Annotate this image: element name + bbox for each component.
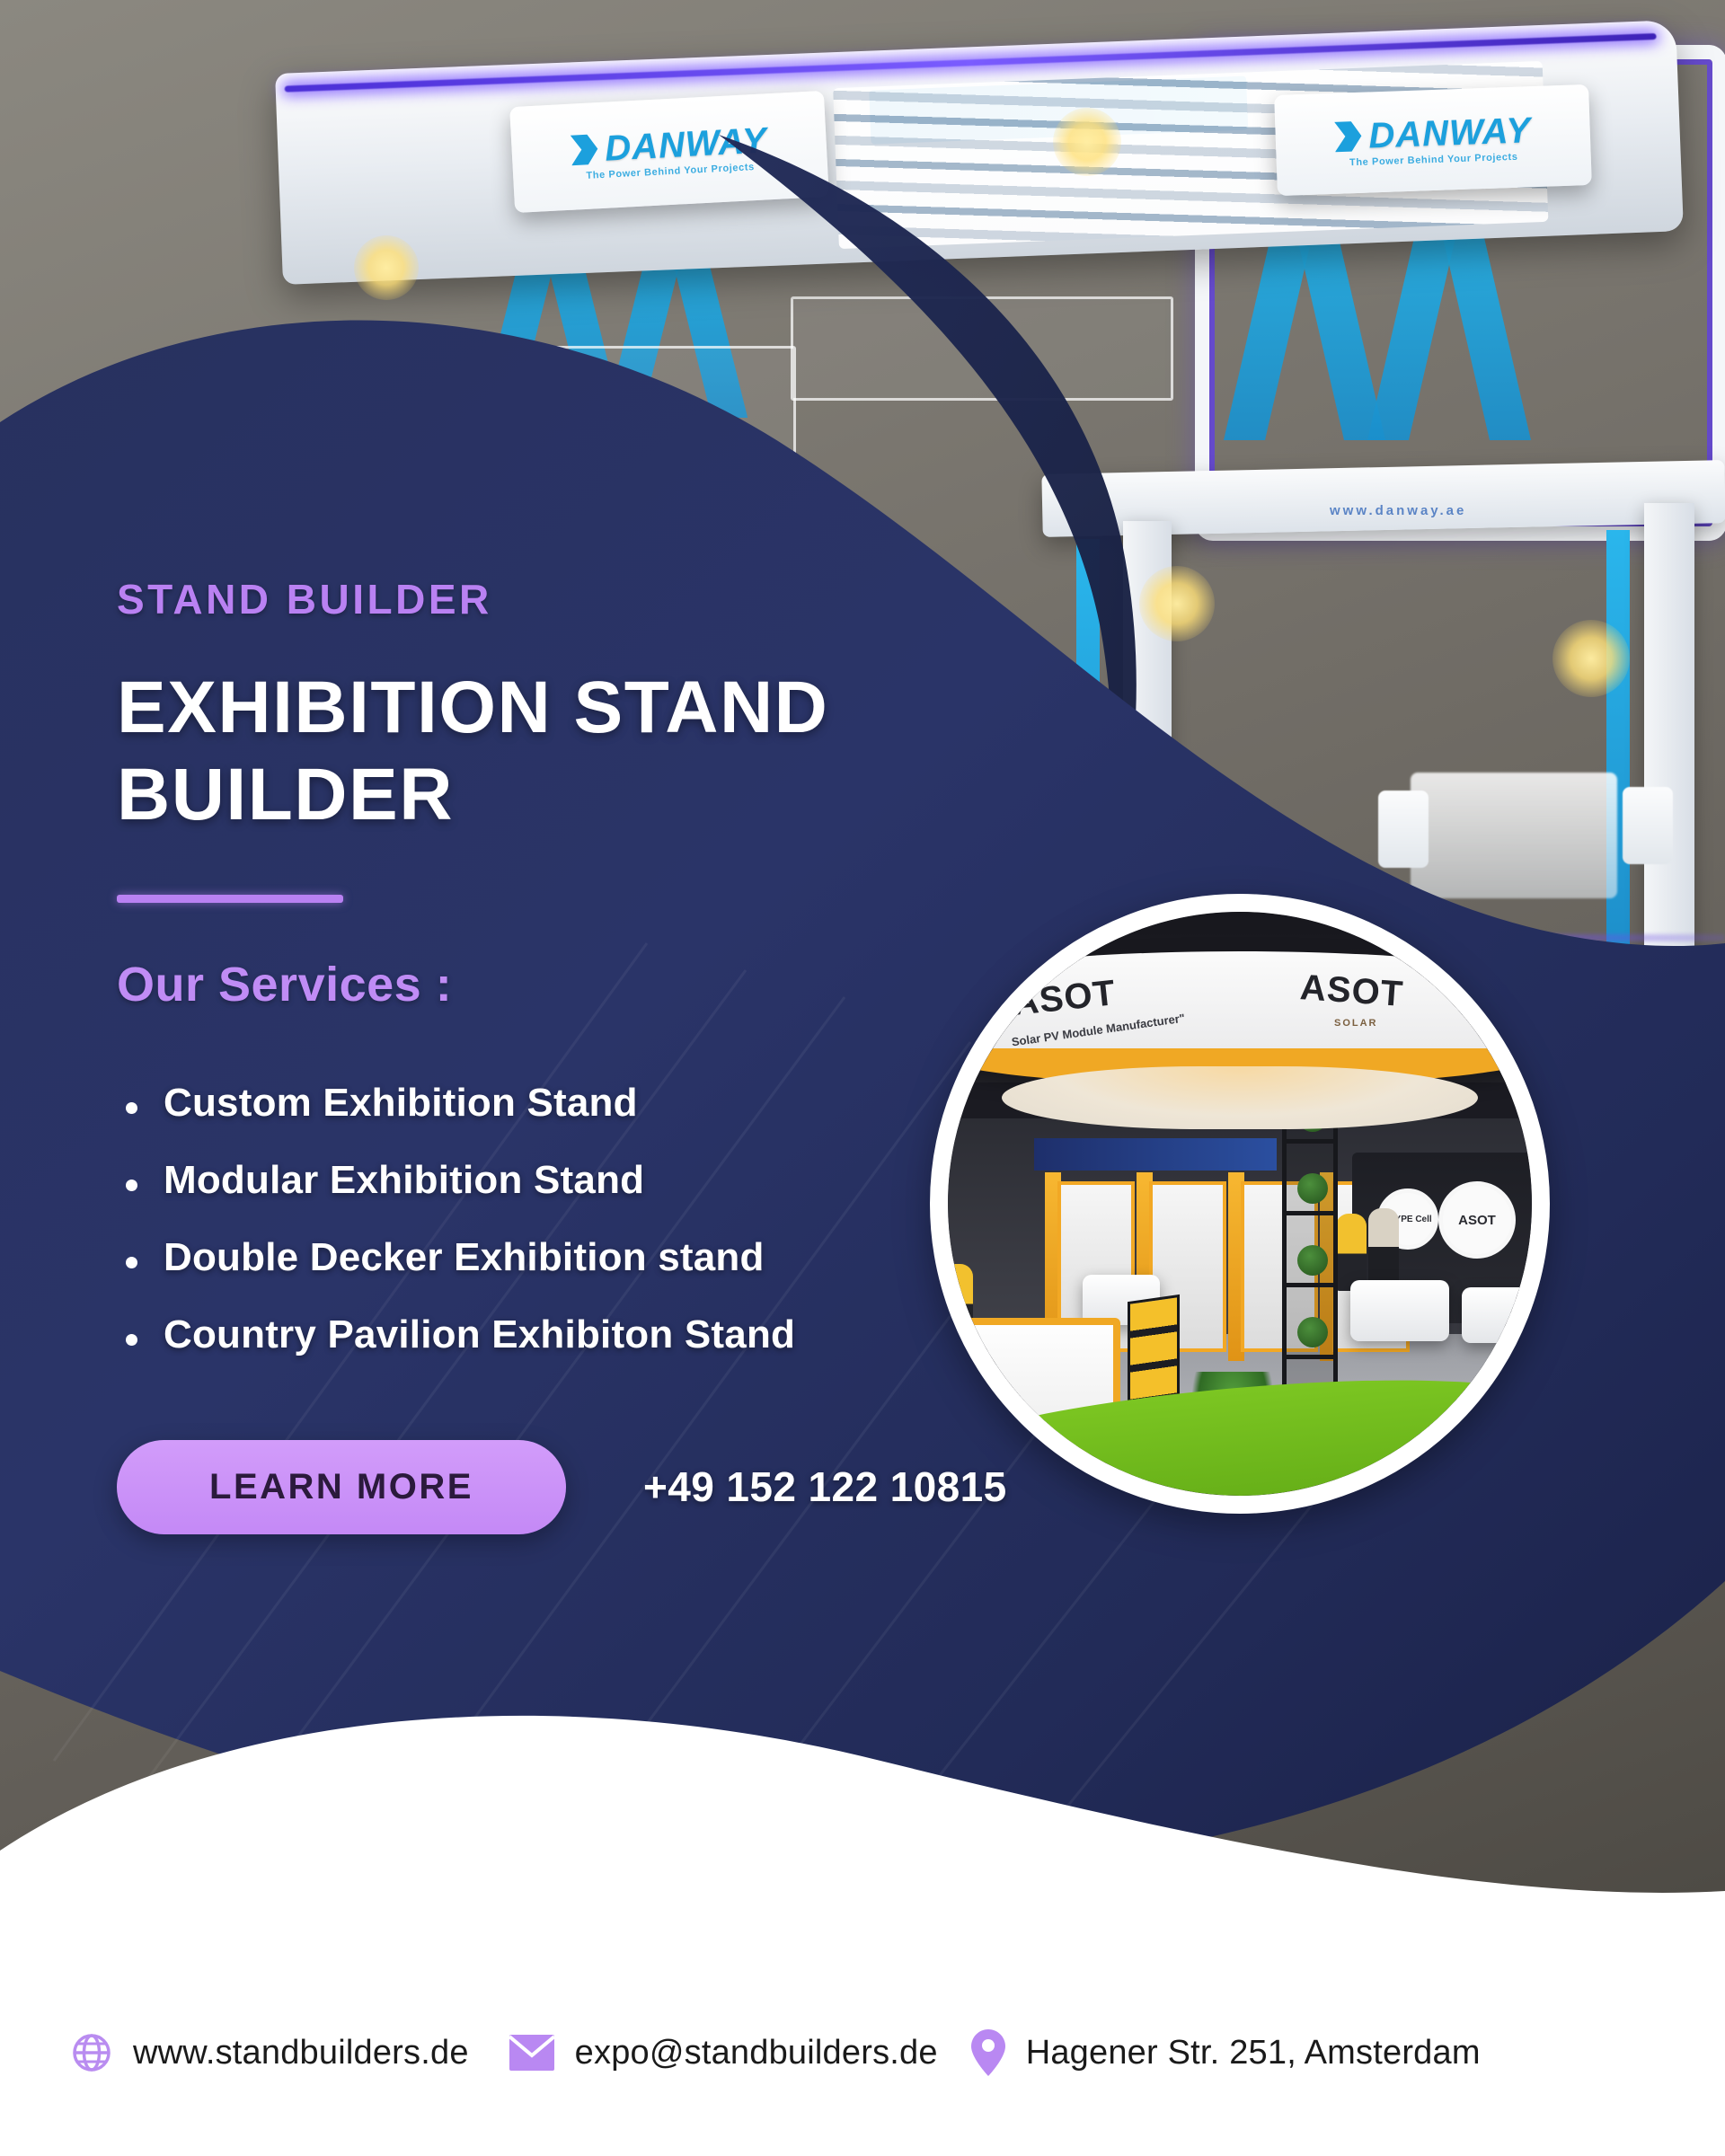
spotlight-glow: [1139, 566, 1215, 641]
booth-ring-graphic-right: ASOT: [1438, 1181, 1516, 1259]
list-item: Country Pavilion Exhibiton Stand: [117, 1312, 1069, 1357]
danway-logo-plaque-right: DANWAY The Power Behind Your Projects: [1274, 84, 1592, 196]
spotlight-glow: [1053, 108, 1121, 176]
cta-row: LEARN MORE +49 152 122 10815: [117, 1440, 1069, 1534]
booth-sofa: [1350, 1280, 1449, 1341]
footer-website-item[interactable]: www.standbuilders.de: [70, 2031, 469, 2074]
list-item: Modular Exhibition Stand: [117, 1158, 1069, 1203]
danway-d-mark-icon: [1334, 120, 1362, 152]
learn-more-button[interactable]: LEARN MORE: [117, 1440, 566, 1534]
booth-soffit-light: [1002, 1066, 1478, 1129]
page-title: EXHIBITION STAND BUILDER: [117, 665, 1069, 839]
upper-deck-railing: [791, 296, 1173, 401]
circular-stand-photo: I-TYPE Cell ASOT OT: [930, 894, 1550, 1514]
globe-icon: [70, 2031, 113, 2074]
map-pin-icon: [970, 2028, 1006, 2077]
title-divider: [117, 895, 343, 903]
footer-website-text: www.standbuilders.de: [133, 2034, 469, 2072]
stand-url-text: www.danway.ae: [1330, 503, 1466, 518]
danway-wordmark: DANWAY: [604, 122, 768, 166]
meeting-chair: [1623, 787, 1673, 864]
booth-visitor: [1368, 1208, 1399, 1286]
services-heading: Our Services :: [117, 957, 1069, 1012]
danway-logo-plaque-left: DANWAY The Power Behind Your Projects: [509, 91, 829, 213]
footer-email-item[interactable]: expo@standbuilders.de: [509, 2034, 938, 2072]
list-item: Custom Exhibition Stand: [117, 1081, 1069, 1126]
poster-canvas: DANWAY The Power Behind Your Projects DA…: [0, 0, 1725, 2156]
stand-pillar: [1644, 503, 1694, 1033]
footer-address-item[interactable]: Hagener Str. 251, Amsterdam: [970, 2028, 1481, 2077]
upper-deck-railing: [287, 346, 796, 459]
footer-address-text: Hagener Str. 251, Amsterdam: [1026, 2034, 1481, 2072]
list-item: Double Decker Exhibition stand: [117, 1235, 1069, 1280]
services-list: Custom Exhibition Stand Modular Exhibiti…: [117, 1081, 1069, 1357]
danway-wordmark: DANWAY: [1368, 112, 1532, 154]
asot-solar-subtext: SOLAR: [1334, 1018, 1378, 1029]
spotlight-glow: [1552, 620, 1630, 697]
booth-sofa: [1462, 1287, 1532, 1343]
main-content: STAND BUILDER EXHIBITION STAND BUILDER O…: [117, 575, 1069, 1534]
meeting-table: [1411, 773, 1617, 898]
danway-d-mark-icon: [570, 134, 598, 166]
footer-email-text: expo@standbuilders.de: [575, 2034, 938, 2072]
eyebrow-label: STAND BUILDER: [117, 575, 1069, 623]
asot-text-right: ASOT: [1299, 968, 1405, 1015]
booth-blue-banner: [1034, 1138, 1277, 1171]
asot-logo-right: ASOT: [1299, 968, 1405, 1015]
meeting-chair: [1378, 791, 1429, 868]
footer-contact-bar: www.standbuilders.de expo@standbuilders.…: [0, 1949, 1725, 2156]
envelope-icon: [509, 2034, 555, 2072]
spotlight-glow: [354, 235, 419, 300]
